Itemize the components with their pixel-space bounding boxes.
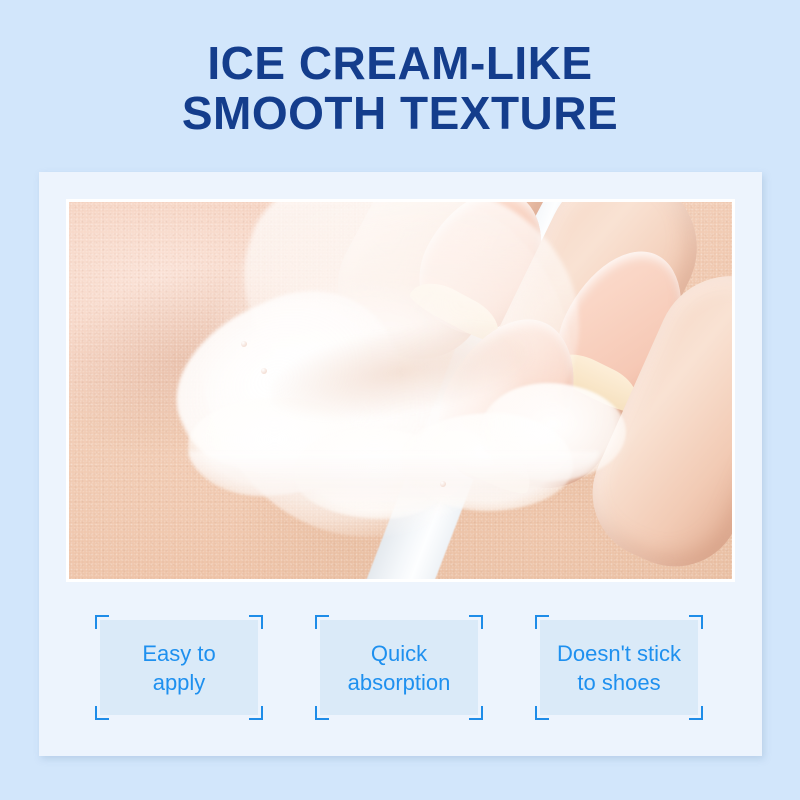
corner-bracket-top-left-icon bbox=[535, 615, 549, 629]
corner-bracket-bottom-right-icon bbox=[249, 706, 263, 720]
corner-bracket-bottom-left-icon bbox=[315, 706, 329, 720]
feature-box-quick-absorption[interactable]: Quick absorption bbox=[320, 620, 478, 715]
feature-list: Easy to apply Quick absorption Doesn't s… bbox=[100, 620, 700, 715]
corner-bracket-top-right-icon bbox=[689, 615, 703, 629]
corner-bracket-top-right-icon bbox=[469, 615, 483, 629]
feature-label: Doesn't stick to shoes bbox=[557, 639, 681, 697]
corner-bracket-bottom-right-icon bbox=[689, 706, 703, 720]
feature-label: Easy to apply bbox=[142, 639, 215, 697]
corner-bracket-top-left-icon bbox=[95, 615, 109, 629]
feature-box-easy-to-apply[interactable]: Easy to apply bbox=[100, 620, 258, 715]
product-photo-frame bbox=[66, 199, 735, 582]
corner-bracket-bottom-left-icon bbox=[535, 706, 549, 720]
corner-bracket-bottom-left-icon bbox=[95, 706, 109, 720]
content-card: Easy to apply Quick absorption Doesn't s… bbox=[39, 172, 762, 756]
feature-label: Quick absorption bbox=[348, 639, 451, 697]
corner-bracket-top-right-icon bbox=[249, 615, 263, 629]
page-title-line-1: ICE CREAM-LIKE bbox=[207, 37, 592, 89]
page-title: ICE CREAM-LIKE SMOOTH TEXTURE bbox=[0, 38, 800, 138]
feature-box-doesnt-stick-to-shoes[interactable]: Doesn't stick to shoes bbox=[540, 620, 698, 715]
product-feature-banner: ICE CREAM-LIKE SMOOTH TEXTURE bbox=[0, 0, 800, 800]
corner-bracket-bottom-right-icon bbox=[469, 706, 483, 720]
page-title-line-2: SMOOTH TEXTURE bbox=[0, 88, 800, 138]
corner-bracket-top-left-icon bbox=[315, 615, 329, 629]
product-photo bbox=[69, 202, 732, 579]
